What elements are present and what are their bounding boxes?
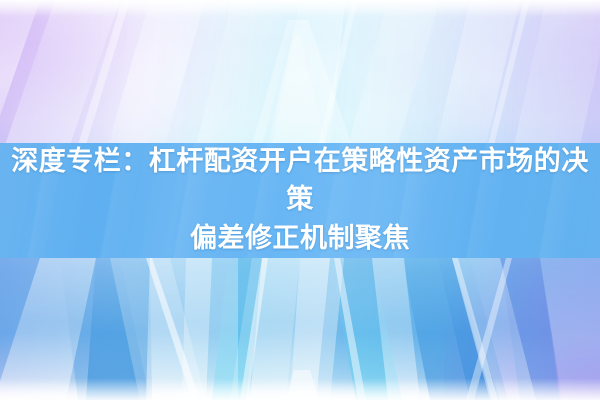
poster-canvas: 深度专栏：杠杆配资开户在策略性资产市场的决策 偏差修正机制聚焦 bbox=[0, 0, 600, 400]
page-title: 深度专栏：杠杆配资开户在策略性资产市场的决策 偏差修正机制聚焦 bbox=[6, 143, 594, 258]
title-banner: 深度专栏：杠杆配资开户在策略性资产市场的决策 偏差修正机制聚焦 bbox=[0, 143, 600, 258]
